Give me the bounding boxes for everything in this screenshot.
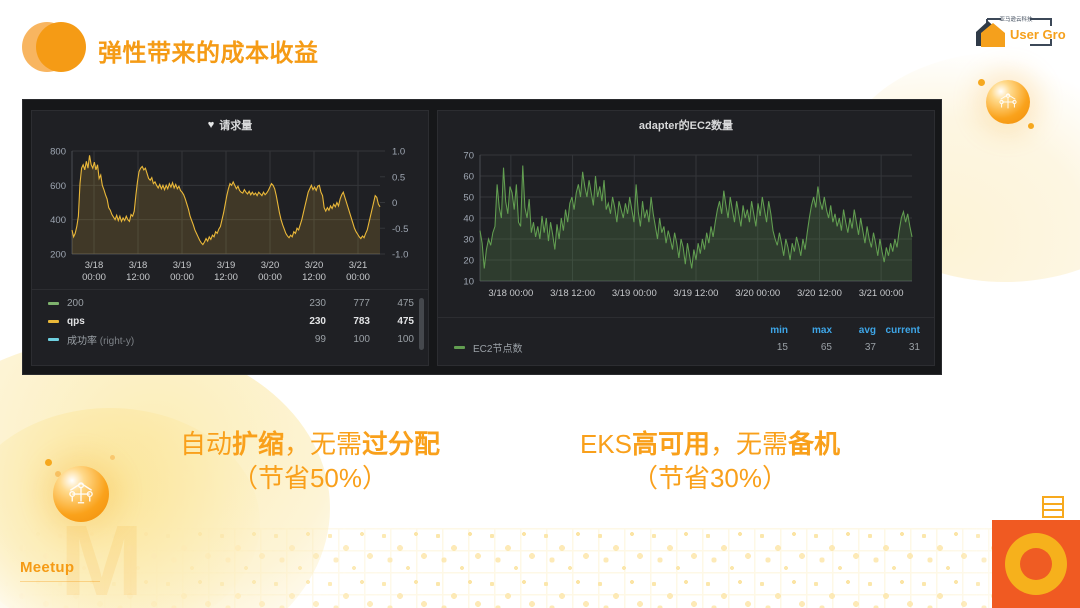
legend-column-header[interactable]: max [788,325,832,336]
svg-text:3/21 00:00: 3/21 00:00 [859,288,904,299]
meetup-logo-rule [20,581,100,582]
panel-ec2-title-bar: adapter的EC2数量 [438,111,934,139]
svg-text:70: 70 [463,151,474,162]
svg-text:12:00: 12:00 [214,272,238,283]
aws-user-group-logo-svg: 亚马逊云科技 User Group [966,8,1066,56]
svg-text:00:00: 00:00 [170,272,194,283]
svg-text:User Group: User Group [1010,27,1066,42]
panel-requests-legend[interactable]: 200230777475qps230783475成功率 (right-y)991… [32,289,428,365]
legend-value: 99 [282,334,326,345]
svg-text:800: 800 [50,147,66,158]
svg-text:3/18: 3/18 [85,260,104,271]
grafana-dashboard: ♥ 请求量 2004006008001.00.50-0.5-1.03/1800:… [22,99,942,375]
requests-line-chart: 2004006008001.00.50-0.5-1.03/1800:003/18… [32,139,430,289]
svg-text:00:00: 00:00 [258,272,282,283]
svg-text:200: 200 [50,250,66,261]
svg-text:50: 50 [463,193,474,204]
legend-value: 100 [326,334,370,345]
decor-dot-4 [55,471,61,477]
statement-left-seg-b: 扩缩 [232,429,284,459]
legend-row[interactable]: EC2节点数15653731 [438,338,934,356]
panel-requests-title-bar: ♥ 请求量 [32,111,428,139]
statement-left-seg-c: ，无需 [284,429,362,459]
legend-value: 31 [876,342,920,353]
panel-requests-plot: 2004006008001.00.50-0.5-1.03/1800:003/18… [32,139,428,289]
svg-text:3/19 12:00: 3/19 12:00 [674,288,719,299]
background-grid-pattern [0,528,1080,608]
aws-user-group-logo: 亚马逊云科技 User Group 亚马逊云科技 User Group [966,8,1066,56]
legend-column-header[interactable]: avg [832,325,876,336]
legend-value: 230 [282,316,326,327]
title-bullet-shadow [22,22,72,72]
statement-left-line1: 自动扩缩，无需过分配 [120,427,500,461]
svg-text:-0.5: -0.5 [392,224,408,235]
page-title: 弹性带来的成本收益 [98,33,319,68]
statement-right-line2: （节省30%） [520,461,900,495]
ec2-count-line-chart: 102030405060703/18 00:003/18 12:003/19 0… [438,139,936,317]
panel-ec2-legend[interactable]: minmaxavgcurrent EC2节点数15653731 [438,317,934,365]
svg-text:00:00: 00:00 [82,272,106,283]
bottom-right-ring [1005,533,1067,595]
legend-color-swatch [48,338,59,341]
svg-text:3/18 00:00: 3/18 00:00 [488,288,533,299]
statement-right-seg-b: 高可用 [632,429,710,459]
legend-series-name: 200 [67,298,282,309]
statement-left-line2: （节省50%） [120,461,500,495]
legend-series-name: 成功率 (right-y) [67,332,282,347]
meetup-logo: M Meetup [8,482,158,602]
svg-text:60: 60 [463,172,474,183]
meetup-logo-label: Meetup [20,559,74,576]
svg-text:3/19: 3/19 [217,260,236,271]
legend-value: 777 [326,298,370,309]
statement-right-line1: EKS高可用，无需备机 [520,427,900,461]
legend-series-axis-note: (right-y) [97,336,134,347]
panel-requests[interactable]: ♥ 请求量 2004006008001.00.50-0.5-1.03/1800:… [31,110,429,366]
legend-color-swatch [48,320,59,323]
legend-scrollbar[interactable] [419,298,424,350]
legend-column-headers: minmaxavgcurrent [438,322,934,338]
svg-text:10: 10 [463,277,474,288]
legend-row[interactable]: 200230777475 [32,294,428,312]
legend-column-header[interactable]: current [876,325,920,336]
svg-text:3/20 12:00: 3/20 12:00 [797,288,842,299]
panel-ec2-count[interactable]: adapter的EC2数量 102030405060703/18 00:003/… [437,110,935,366]
bottom-right-mark [992,520,1080,608]
decor-dot-5 [110,455,115,460]
statement-left-seg-a: 自动 [180,429,232,459]
svg-text:1.0: 1.0 [392,147,405,158]
decor-sphere-bottom-left [53,466,109,522]
svg-text:-1.0: -1.0 [392,250,408,261]
statement-left-seg-d: 过分配 [362,429,440,459]
statement-left: 自动扩缩，无需过分配 （节省50%） [120,427,500,496]
legend-value: 475 [370,316,414,327]
legend-row[interactable]: qps230783475 [32,312,428,330]
legend-value: 475 [370,298,414,309]
svg-text:3/19 00:00: 3/19 00:00 [612,288,657,299]
statement-right-seg-d: 备机 [788,429,840,459]
meetup-logo-mark: M [60,519,140,604]
svg-text:3/20: 3/20 [305,260,324,271]
svg-text:12:00: 12:00 [126,272,150,283]
background-icon-pattern-band [0,528,1080,608]
svg-text:3/18 12:00: 3/18 12:00 [550,288,595,299]
svg-text:3/21: 3/21 [349,260,368,271]
svg-text:600: 600 [50,181,66,192]
svg-text:3/20 00:00: 3/20 00:00 [735,288,780,299]
svg-text:12:00: 12:00 [302,272,326,283]
decor-sphere-top-right [986,80,1030,124]
svg-text:3/19: 3/19 [173,260,192,271]
statement-right: EKS高可用，无需备机 （节省30%） [520,427,900,496]
title-bullet [36,22,86,72]
statement-right-seg-a: EKS [580,429,632,459]
decor-dot-3 [45,459,52,466]
legend-column-header[interactable]: min [744,325,788,336]
svg-text:20: 20 [463,256,474,267]
legend-value: 37 [832,342,876,353]
panel-ec2-title: adapter的EC2数量 [639,117,733,133]
panel-requests-title: 请求量 [219,117,252,133]
legend-series-name: qps [67,316,282,327]
legend-color-swatch [454,346,465,349]
svg-text:3/20: 3/20 [261,260,280,271]
legend-value: 15 [744,342,788,353]
heart-icon: ♥ [208,120,215,131]
bottom-right-core [1020,548,1052,580]
network-nodes-icon [66,479,96,509]
decor-dot-2 [1028,123,1034,129]
decor-dot-1 [978,79,985,86]
svg-text:3/18: 3/18 [129,260,148,271]
legend-value: 100 [370,334,414,345]
svg-text:00:00: 00:00 [346,272,370,283]
legend-color-swatch [48,302,59,305]
statement-right-seg-c: ，无需 [710,429,788,459]
panel-ec2-plot: 102030405060703/18 00:003/18 12:003/19 0… [438,139,934,317]
svg-text:400: 400 [50,215,66,226]
svg-text:0: 0 [392,198,397,209]
legend-series-name: EC2节点数 [473,340,744,355]
menu-bars-icon [1040,494,1066,520]
slide-root: 弹性带来的成本收益 亚马逊云科技 User Group 亚马逊云科技 User … [0,0,1080,608]
network-nodes-icon [997,91,1019,113]
legend-row[interactable]: 成功率 (right-y)99100100 [32,330,428,348]
legend-value: 783 [326,316,370,327]
svg-text:0.5: 0.5 [392,172,405,183]
svg-text:30: 30 [463,235,474,246]
svg-text:亚马逊云科技: 亚马逊云科技 [999,15,1033,23]
svg-text:40: 40 [463,214,474,225]
legend-value: 230 [282,298,326,309]
legend-value: 65 [788,342,832,353]
